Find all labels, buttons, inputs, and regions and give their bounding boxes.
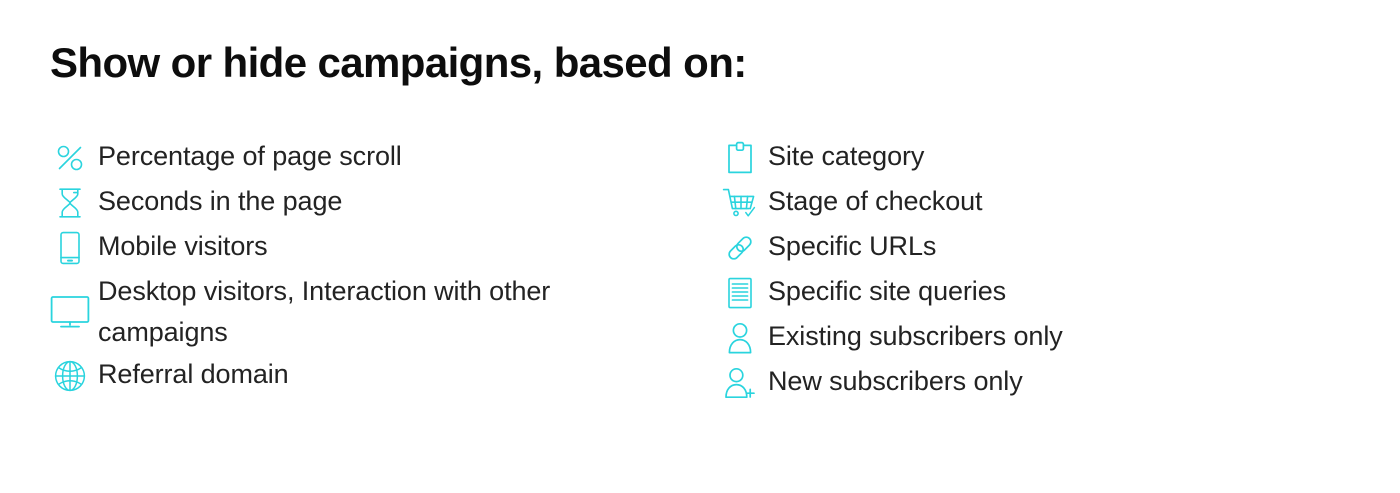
list-item-label: Specific URLs	[762, 226, 936, 267]
feature-column-right: Site category Stage of che	[718, 136, 1358, 406]
mobile-phone-icon	[48, 226, 92, 270]
list-item-label: Desktop visitors, Interaction with other…	[92, 271, 668, 353]
clipboard-icon	[718, 136, 762, 180]
shopping-cart-check-icon	[718, 181, 762, 225]
list-item[interactable]: Site category	[718, 136, 1358, 180]
feature-list-slide: Show or hide campaigns, based on: Percen…	[0, 0, 1400, 493]
user-icon	[718, 316, 762, 360]
desktop-monitor-icon	[48, 290, 92, 334]
list-item-label: Site category	[762, 136, 924, 177]
list-item[interactable]: Mobile visitors	[48, 226, 668, 270]
page-title: Show or hide campaigns, based on:	[50, 40, 747, 86]
list-item-label: Percentage of page scroll	[92, 136, 402, 177]
list-item-label: New subscribers only	[762, 361, 1023, 402]
list-item[interactable]: Specific site queries	[718, 271, 1358, 315]
list-item[interactable]: Percentage of page scroll	[48, 136, 668, 180]
list-item-label: Mobile visitors	[92, 226, 268, 267]
list-item-label: Existing subscribers only	[762, 316, 1063, 357]
document-lines-icon	[718, 271, 762, 315]
list-item[interactable]: New subscribers only	[718, 361, 1358, 405]
list-item[interactable]: Existing subscribers only	[718, 316, 1358, 360]
globe-icon	[48, 354, 92, 398]
feature-column-left: Percentage of page scroll Seconds in the…	[48, 136, 668, 399]
list-item-label: Specific site queries	[762, 271, 1006, 312]
list-item-label: Referral domain	[92, 354, 289, 395]
list-item[interactable]: Seconds in the page	[48, 181, 668, 225]
list-item[interactable]: Stage of checkout	[718, 181, 1358, 225]
user-plus-icon	[718, 361, 762, 405]
list-item[interactable]: Referral domain	[48, 354, 668, 398]
percent-icon	[48, 136, 92, 180]
hourglass-icon	[48, 181, 92, 225]
list-item[interactable]: Specific URLs	[718, 226, 1358, 270]
list-item[interactable]: Desktop visitors, Interaction with other…	[48, 271, 668, 353]
link-chain-icon	[718, 226, 762, 270]
list-item-label: Stage of checkout	[762, 181, 982, 222]
list-item-label: Seconds in the page	[92, 181, 342, 222]
